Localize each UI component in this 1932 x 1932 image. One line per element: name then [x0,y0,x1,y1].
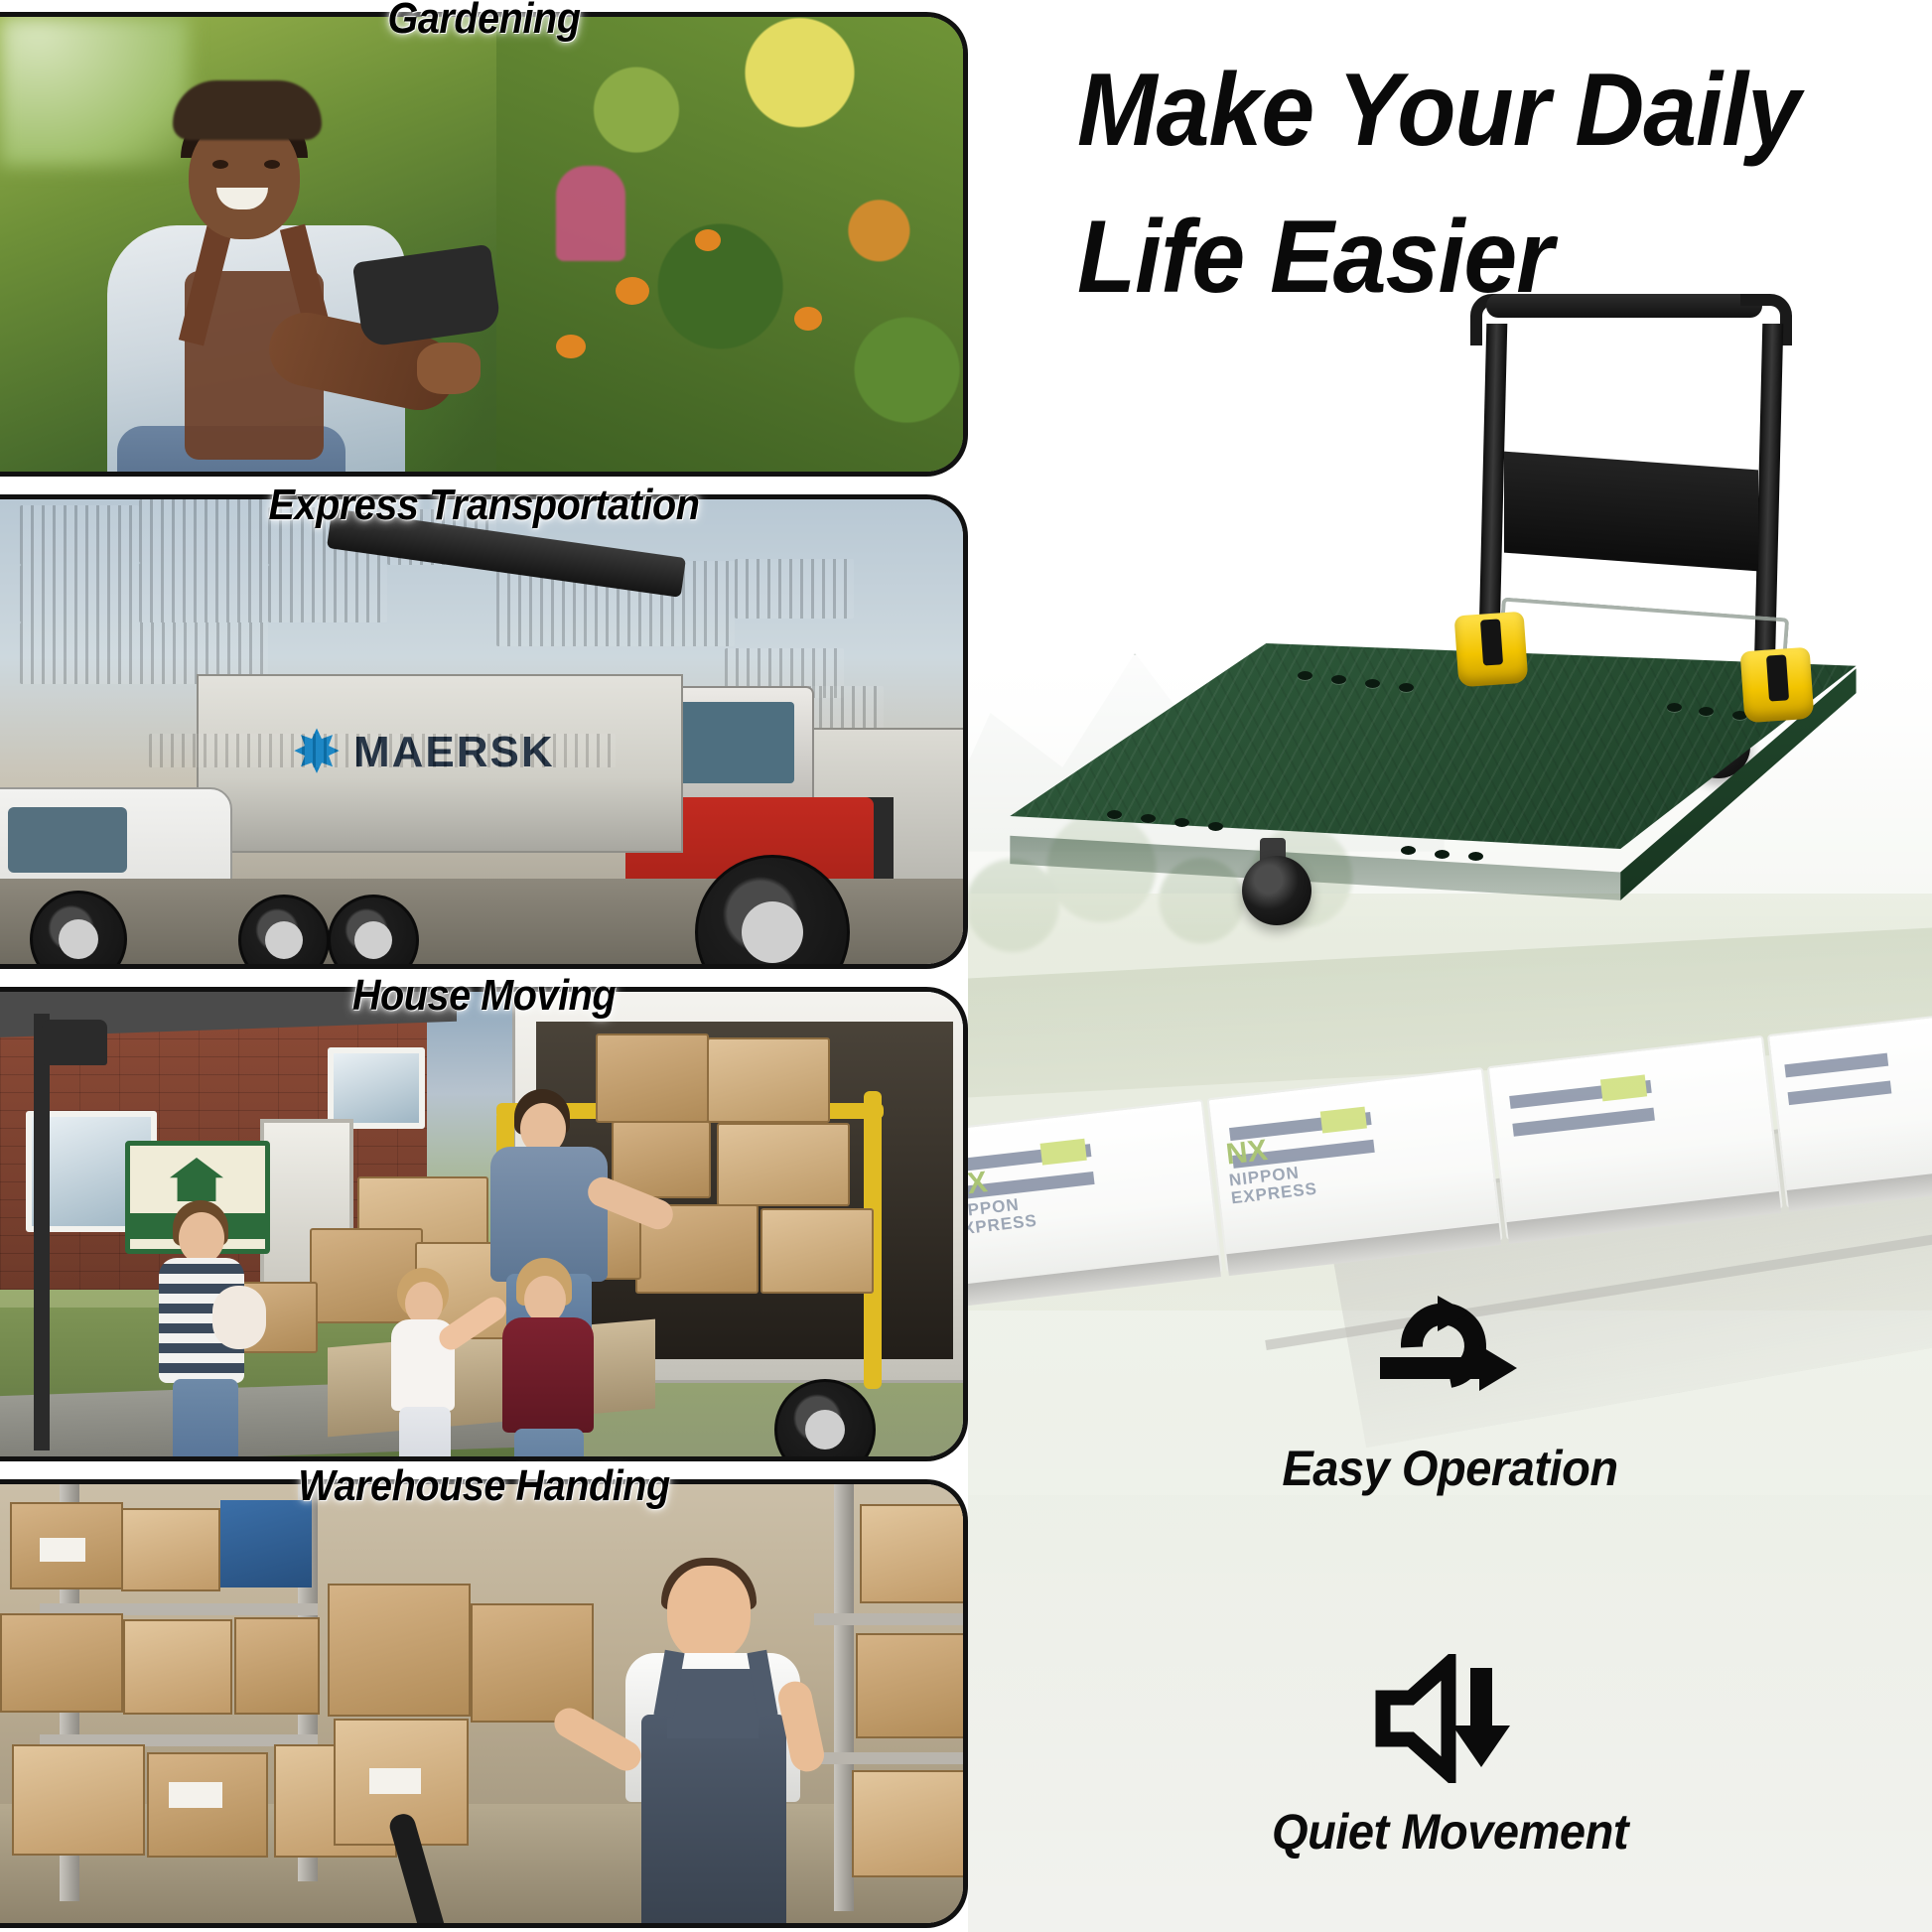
caption-gardening: Gardening [49,0,920,44]
headline: Make Your Daily Life Easier [1077,38,1844,331]
use-case-collage: ✸ MAERSK [0,0,968,1932]
gardening-photo-content [0,17,963,472]
caption-house-moving: House Moving [49,971,920,1021]
warehouse-worker [596,1566,834,1923]
cart-caster-front [1242,856,1311,925]
lamp-post [34,1014,50,1450]
cart-clamp-left [1454,612,1529,688]
garden-background-person [556,166,625,261]
train-logo-nx-2: NX [1224,1134,1269,1173]
speaker-volume-down-icon [968,1644,1932,1793]
cart-back-panel [1504,452,1758,572]
house-moving-photo-content: SOLD [0,992,963,1456]
use-case-photo-gardening [0,12,968,477]
train-logo-sub: NIPPONEXPRESS [968,1194,1038,1239]
caption-express-transportation: Express Transportation [49,481,920,530]
headline-line-2: Life Easier [1077,185,1844,332]
caption-warehouse-handing: Warehouse Handing [49,1461,920,1511]
use-case-photo-house-moving: SOLD [0,987,968,1461]
feature-quiet-movement: Quiet Movement [968,1644,1932,1861]
warehouse-photo-content [0,1484,963,1923]
product-marketing-image: ✸ MAERSK [0,0,1932,1932]
train-logo-nx: NX [968,1166,989,1204]
transportation-photo-content: ✸ MAERSK [0,499,963,964]
headline-line-1: Make Your Daily [1077,53,1800,168]
platform-hand-truck-product [1004,294,1897,989]
feature-easy-operation: Easy Operation [968,1281,1932,1497]
feature-label-easy-operation: Easy Operation [997,1440,1903,1497]
product-panel: Make Your Daily Life Easier NX NIPPONEXP… [968,0,1932,1932]
cart-clamp-right [1740,647,1815,724]
feature-label-quiet-movement: Quiet Movement [997,1803,1903,1861]
house-icon [170,1158,223,1201]
train-logo-sub-2: NIPPONEXPRESS [1228,1163,1318,1207]
rotation-arrow-icon [968,1281,1932,1430]
use-case-photo-express-transportation: ✸ MAERSK [0,494,968,969]
use-case-photo-warehouse-handing [0,1479,968,1928]
